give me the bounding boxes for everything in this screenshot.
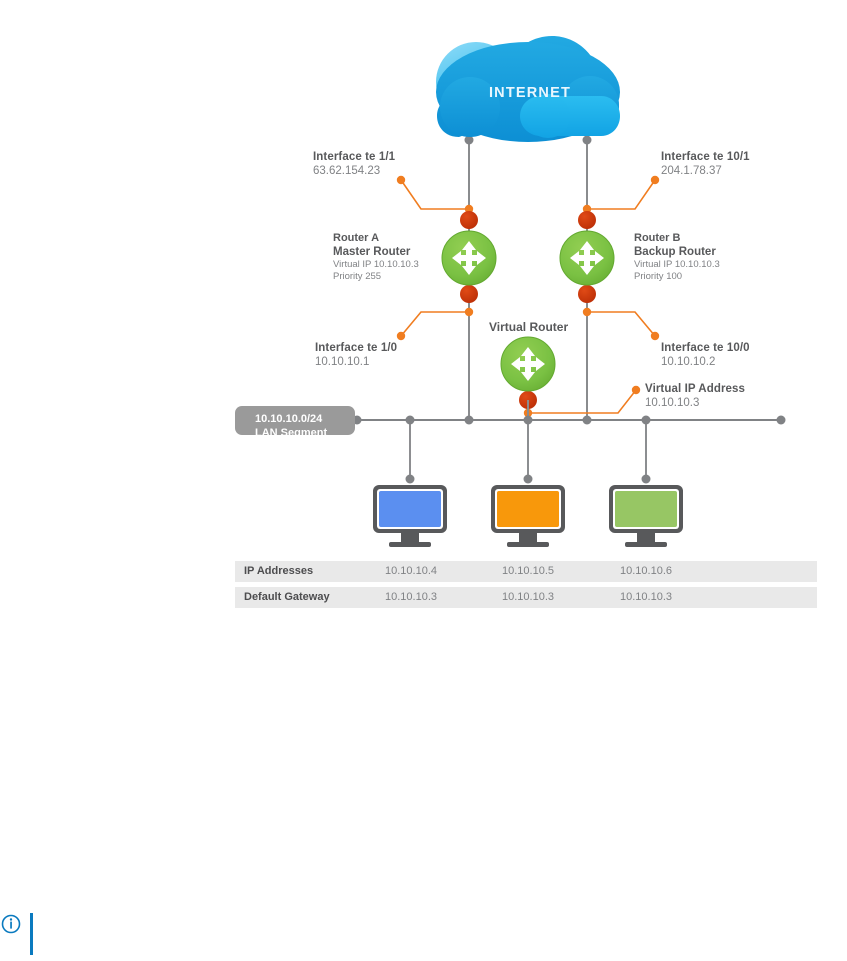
virtual-ip-name: Virtual IP Address — [645, 383, 745, 397]
table-row: Default Gateway 10.10.10.3 10.10.10.3 10… — [235, 587, 817, 608]
host-3-screen — [615, 491, 677, 527]
router-a-name: Router A — [333, 232, 419, 245]
footer-accent-bar — [30, 913, 33, 955]
interface-name: Interface te 1/1 — [313, 151, 395, 165]
table-cell: 10.10.10.6 — [620, 561, 672, 582]
host-2-monitor-icon — [491, 485, 565, 547]
interface-label-te-10-0: Interface te 10/0 10.10.10.2 — [661, 342, 750, 369]
interface-address: 10.10.10.1 — [315, 356, 397, 370]
leader-te-1-0 — [397, 308, 473, 340]
interface-name: Interface te 10/1 — [661, 151, 750, 165]
row-header: Default Gateway — [244, 587, 330, 608]
host-drop-lines — [406, 420, 651, 484]
host-1-screen — [379, 491, 441, 527]
host-2-screen — [497, 491, 559, 527]
interface-address: 10.10.10.2 — [661, 356, 750, 370]
router-b-virtual-ip: Virtual IP 10.10.10.3 — [634, 259, 720, 271]
router-b-priority: Priority 100 — [634, 271, 720, 283]
network-diagram: INTERNET — [0, 0, 847, 961]
router-a-label: Router A Master Router Virtual IP 10.10.… — [333, 232, 419, 282]
router-a-role: Master Router — [333, 245, 419, 259]
virtual-router-label: Virtual Router — [489, 320, 568, 334]
router-b-role: Backup Router — [634, 245, 720, 259]
lan-segment-box: 10.10.10.0/24 LAN Segment — [235, 406, 355, 435]
virtual-ip-address: 10.10.10.3 — [645, 397, 745, 411]
interface-name: Interface te 10/0 — [661, 342, 750, 356]
table-row: IP Addresses 10.10.10.4 10.10.10.5 10.10… — [235, 561, 817, 582]
cloud-icon: INTERNET — [436, 36, 620, 142]
router-b-label: Router B Backup Router Virtual IP 10.10.… — [634, 232, 720, 282]
table-cell: 10.10.10.4 — [385, 561, 437, 582]
table-cell: 10.10.10.3 — [385, 587, 437, 608]
diagram-graphics: INTERNET — [0, 0, 847, 961]
leader-te-10-0 — [583, 308, 659, 340]
table-cell: 10.10.10.5 — [502, 561, 554, 582]
leader-te-1-1 — [397, 176, 473, 213]
interface-address: 63.62.154.23 — [313, 165, 395, 179]
table-cell: 10.10.10.3 — [502, 587, 554, 608]
interface-label-te-1-0: Interface te 1/0 10.10.10.1 — [315, 342, 397, 369]
lan-bus-line — [353, 416, 786, 425]
leader-virtual-ip — [524, 386, 640, 417]
host-3-monitor-icon — [609, 485, 683, 547]
row-header: IP Addresses — [244, 561, 313, 582]
lan-segment-subnet: 10.10.10.0/24 — [255, 412, 345, 426]
table-cell: 10.10.10.3 — [620, 587, 672, 608]
interface-label-te-1-1: Interface te 1/1 63.62.154.23 — [313, 151, 395, 178]
host-address-table: IP Addresses 10.10.10.4 10.10.10.5 10.10… — [235, 561, 817, 608]
info-circle-icon[interactable] — [3, 916, 20, 933]
router-a-priority: Priority 255 — [333, 271, 419, 283]
virtual-router-icon — [501, 337, 555, 420]
host-1-monitor-icon — [373, 485, 447, 547]
router-b-icon — [560, 211, 614, 303]
interface-name: Interface te 1/0 — [315, 342, 397, 356]
cloud-label: INTERNET — [489, 85, 571, 101]
lan-segment-label: LAN Segment — [255, 426, 345, 440]
virtual-ip-label: Virtual IP Address 10.10.10.3 — [645, 383, 745, 410]
router-a-icon — [442, 211, 496, 303]
interface-address: 204.1.78.37 — [661, 165, 750, 179]
interface-label-te-10-1: Interface te 10/1 204.1.78.37 — [661, 151, 750, 178]
link-endpoint-dot — [583, 136, 592, 145]
router-b-name: Router B — [634, 232, 720, 245]
leader-te-10-1 — [583, 176, 659, 213]
router-a-virtual-ip: Virtual IP 10.10.10.3 — [333, 259, 419, 271]
